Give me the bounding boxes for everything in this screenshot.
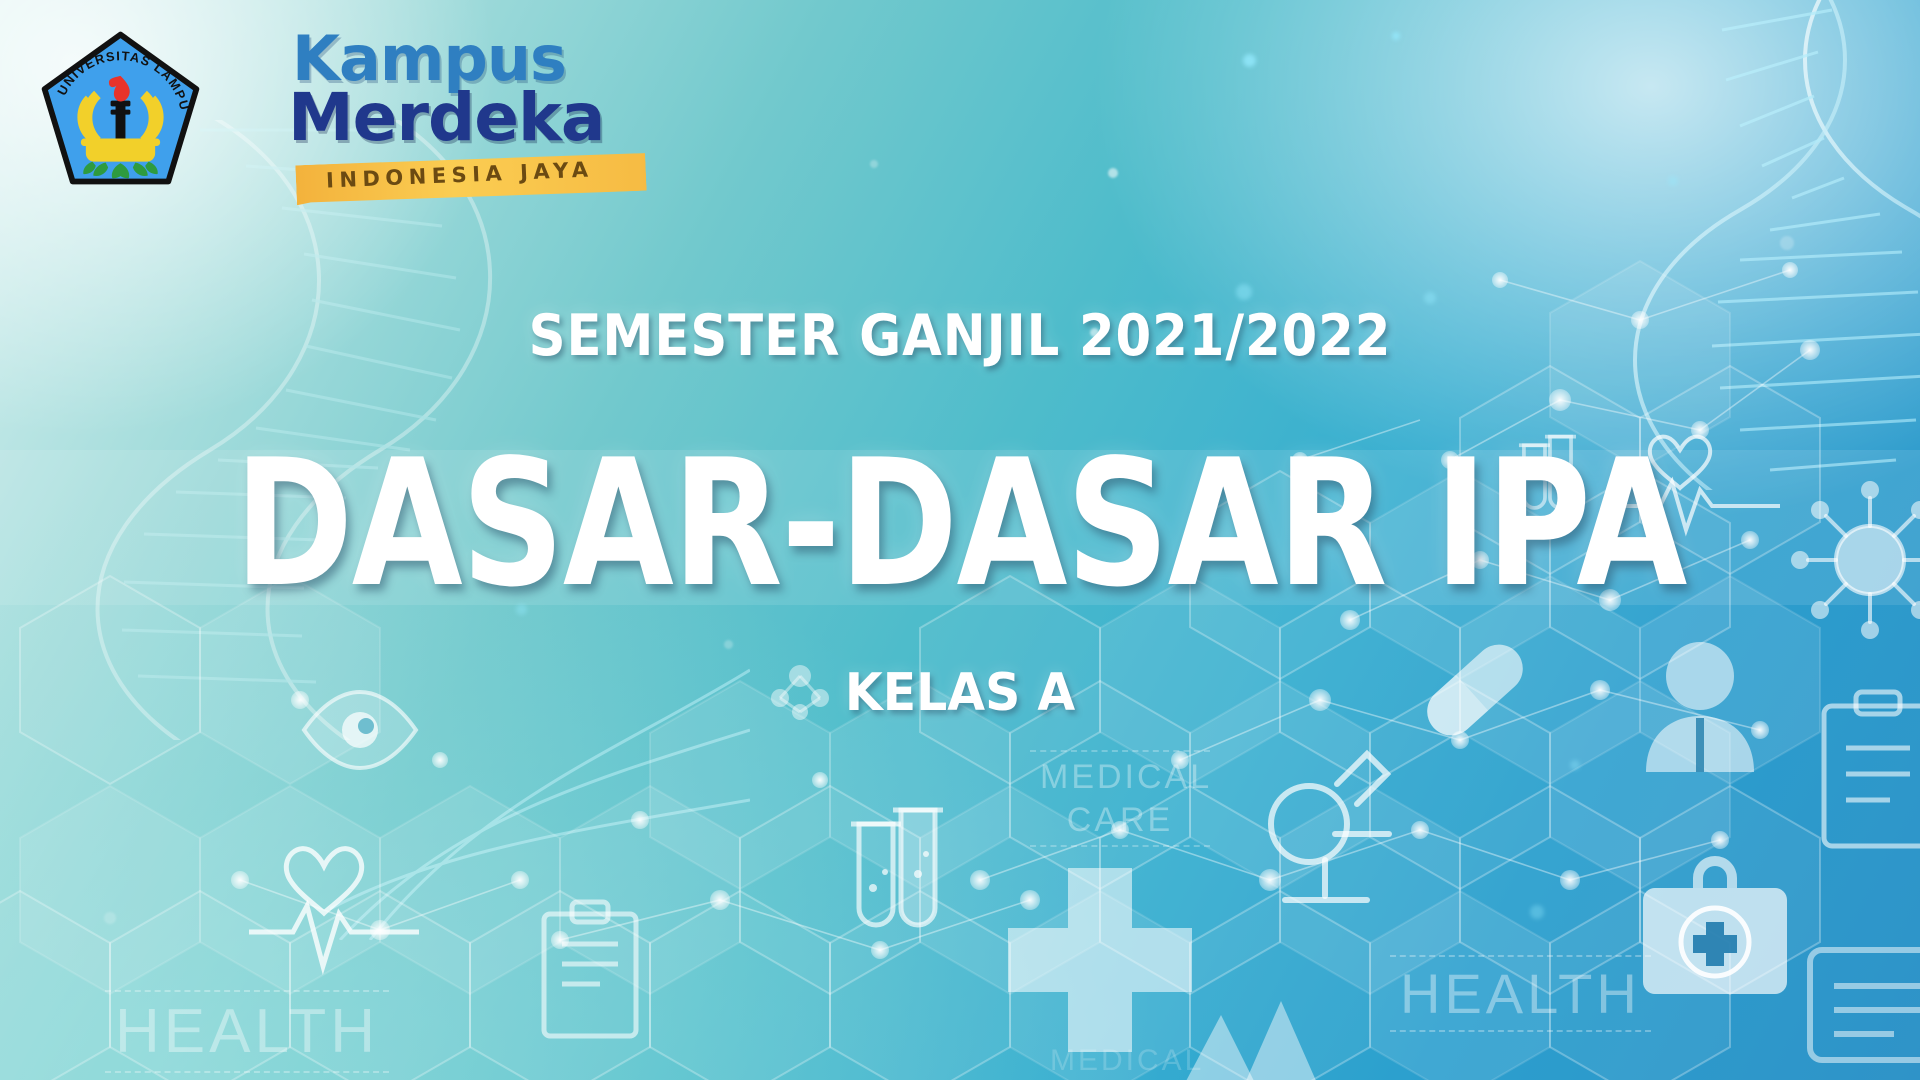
semester-label: SEMESTER GANJIL 2021/2022	[96, 303, 1824, 369]
class-label: KELAS A	[58, 663, 1863, 723]
course-title: DASAR-DASAR IPA	[173, 437, 1747, 612]
presentation-slide: HEALTH MEDICAL CARE HEALTH MEDICAL UNIVE…	[0, 0, 1920, 1080]
slide-text-block: SEMESTER GANJIL 2021/2022 DASAR-DASAR IP…	[0, 0, 1920, 1080]
